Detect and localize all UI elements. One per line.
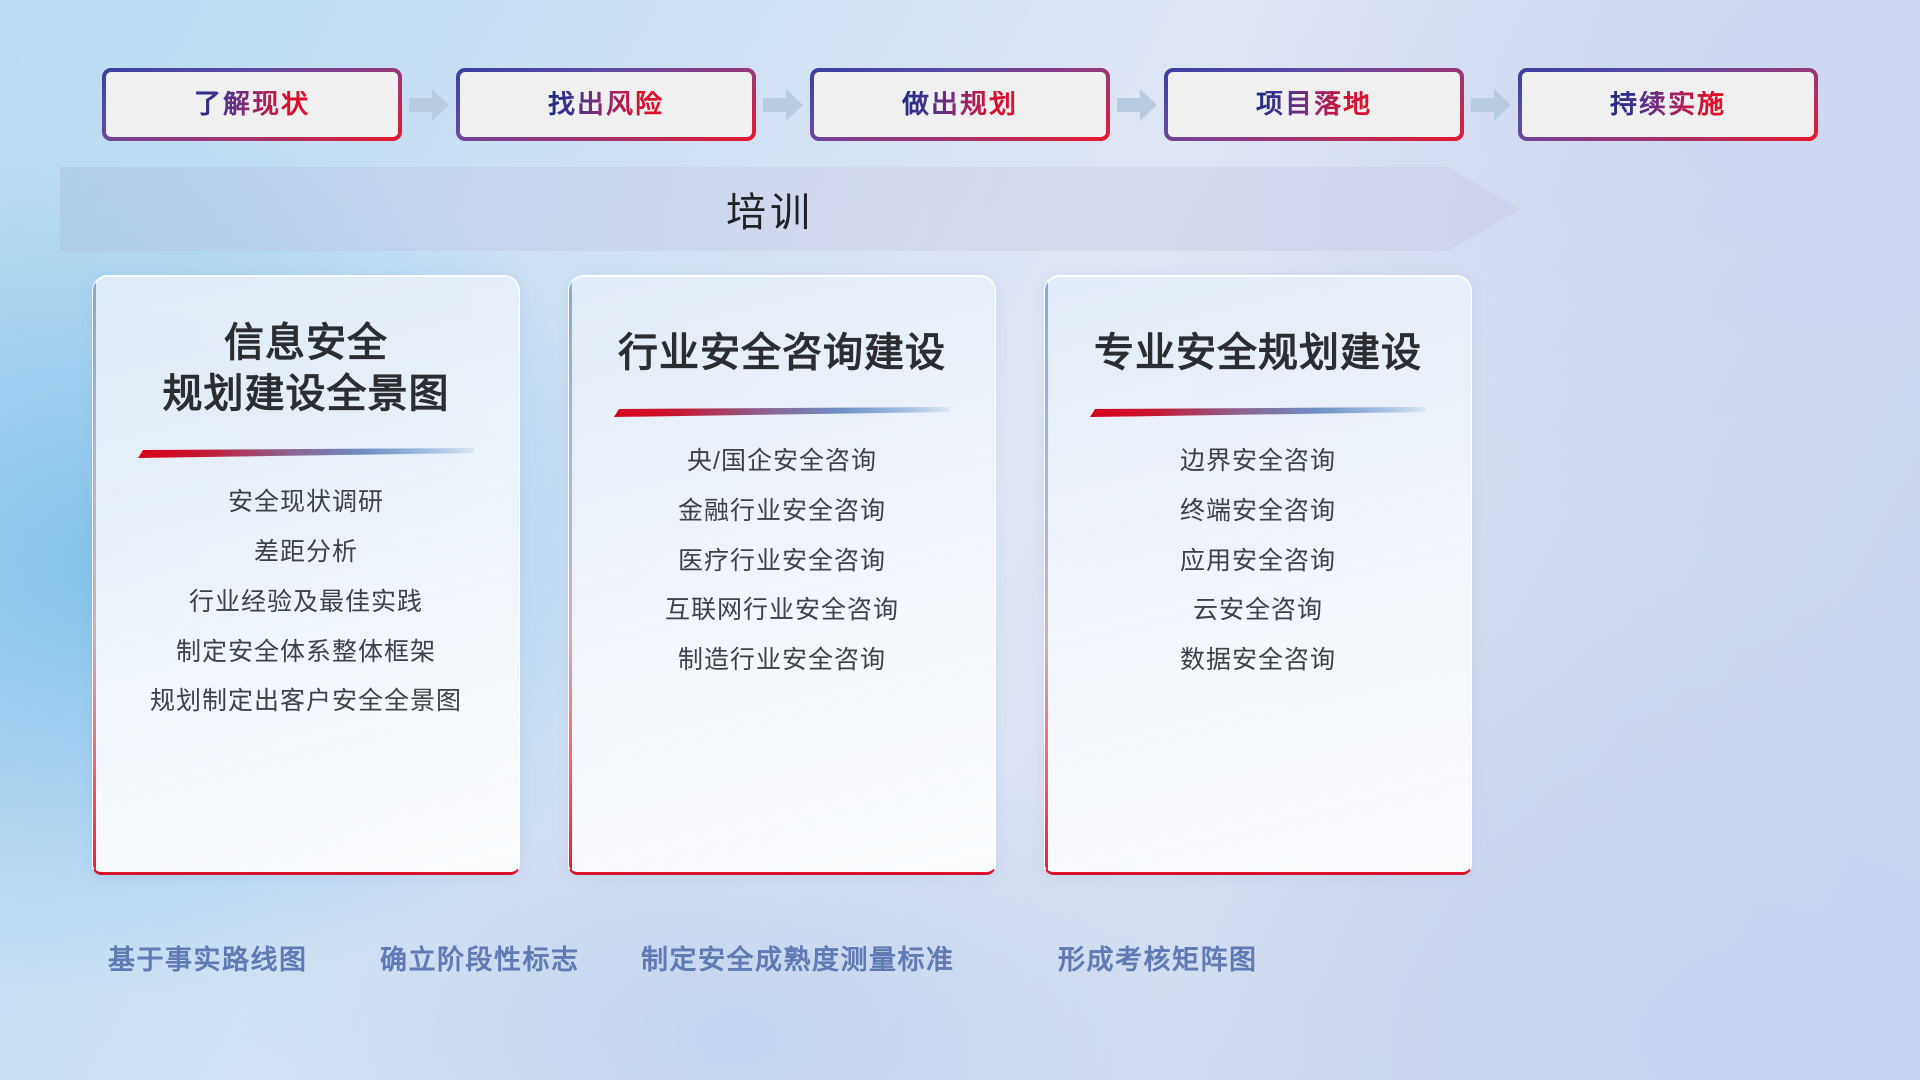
list-item[interactable]: 终端安全咨询 [1180,495,1336,529]
list-item[interactable]: 应用安全咨询 [1180,545,1336,579]
list-item[interactable]: 制造行业安全咨询 [678,644,886,678]
list-item[interactable]: 行业经验及最佳实践 [189,586,423,620]
caption-label-3: 制定安全成熟度测量标准 [641,938,955,977]
step-box-1[interactable]: 了解现状 [102,68,402,141]
card-title: 行业安全咨询建设 [618,328,946,379]
step-label: 项目落地 [1256,91,1372,118]
arrow-right-icon [402,68,456,141]
card-divider [1090,405,1427,421]
info-card-2[interactable]: 行业安全咨询建设央/国企安全咨询金融行业安全咨询医疗行业安全咨询互联网行业安全咨… [568,275,996,875]
list-item[interactable]: 数据安全咨询 [1180,644,1336,678]
card-item-list: 央/国企安全咨询金融行业安全咨询医疗行业安全咨询互联网行业安全咨询制造行业安全咨… [569,445,995,678]
list-item[interactable]: 互联网行业安全咨询 [665,594,899,628]
step-label: 做出规划 [902,91,1018,118]
step-box-3[interactable]: 做出规划 [810,68,1110,141]
card-title: 信息安全 规划建设全景图 [163,318,450,420]
list-item[interactable]: 云安全咨询 [1193,594,1323,628]
step-box-4[interactable]: 项目落地 [1164,68,1464,141]
list-item[interactable]: 边界安全咨询 [1180,445,1336,479]
caption-label-4: 形成考核矩阵图 [1058,938,1258,977]
step-label: 了解现状 [194,91,310,118]
step-label: 持续实施 [1610,91,1726,118]
caption-label-2: 确立阶段性标志 [380,938,580,977]
training-banner: 培训 [60,167,1520,251]
step-label: 找出风险 [548,91,664,118]
card-divider [614,405,951,421]
caption-label-1: 基于事实路线图 [108,938,308,977]
step-box-5[interactable]: 持续实施 [1518,68,1818,141]
card-item-list: 安全现状调研差距分析行业经验及最佳实践制定安全体系整体框架规划制定出客户安全全景… [93,486,519,719]
banner-title: 培训 [60,167,1520,251]
card-divider [138,446,475,462]
arrow-right-icon [1110,68,1164,141]
process-step-row: 了解现状找出风险做出规划项目落地持续实施 [0,68,1920,141]
card-row: 信息安全 规划建设全景图安全现状调研差距分析行业经验及最佳实践制定安全体系整体框… [92,275,1472,875]
step-box-2[interactable]: 找出风险 [456,68,756,141]
list-item[interactable]: 金融行业安全咨询 [678,495,886,529]
list-item[interactable]: 央/国企安全咨询 [687,445,877,479]
list-item[interactable]: 差距分析 [254,536,358,570]
card-title: 专业安全规划建设 [1094,328,1422,379]
arrow-right-icon [756,68,810,141]
list-item[interactable]: 规划制定出客户安全全景图 [150,685,462,719]
arrow-right-icon [1464,68,1518,141]
list-item[interactable]: 安全现状调研 [228,486,384,520]
list-item[interactable]: 制定安全体系整体框架 [176,636,436,670]
caption-row: 基于事实路线图确立阶段性标志制定安全成熟度测量标准形成考核矩阵图 [0,938,1920,980]
card-item-list: 边界安全咨询终端安全咨询应用安全咨询云安全咨询数据安全咨询 [1045,445,1471,678]
info-card-3[interactable]: 专业安全规划建设边界安全咨询终端安全咨询应用安全咨询云安全咨询数据安全咨询 [1044,275,1472,875]
list-item[interactable]: 医疗行业安全咨询 [678,545,886,579]
info-card-1[interactable]: 信息安全 规划建设全景图安全现状调研差距分析行业经验及最佳实践制定安全体系整体框… [92,275,520,875]
slide-canvas: 了解现状找出风险做出规划项目落地持续实施 培训 信息安全 规划建设全景图安全现状… [0,0,1920,1080]
